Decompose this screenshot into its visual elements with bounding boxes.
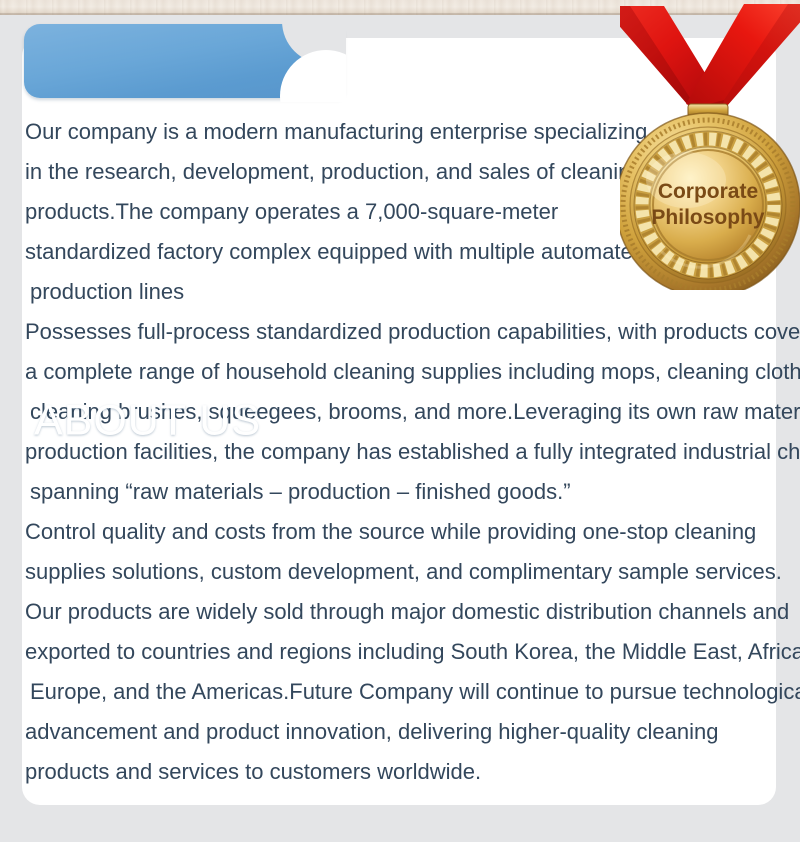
body-line: products and services to customers world… [25, 752, 787, 792]
body-line: Possesses full-process standardized prod… [25, 312, 787, 352]
medal-label-line-1: Corporate [658, 180, 758, 203]
header-tab-curve-notch [272, 20, 346, 102]
body-line: Control quality and costs from the sourc… [25, 512, 787, 552]
body-paragraph: Control quality and costs from the sourc… [25, 512, 787, 792]
about-us-header-tab [24, 24, 344, 98]
body-line: Europe, and the Americas.Future Company … [25, 672, 787, 712]
body-line: supplies solutions, custom development, … [25, 552, 787, 592]
body-line: exported to countries and regions includ… [25, 632, 787, 672]
body-line: a complete range of household cleaning s… [25, 352, 787, 392]
body-line: spanning “raw materials – production – f… [25, 472, 787, 512]
body-line: Our products are widely sold through maj… [25, 592, 787, 632]
body-line: advancement and product innovation, deli… [25, 712, 787, 752]
page-title: ABOUT US [34, 400, 261, 443]
medal-icon: Corporate Philosophy [620, 0, 800, 290]
medal-label-line-2: Philosophy [651, 206, 764, 229]
